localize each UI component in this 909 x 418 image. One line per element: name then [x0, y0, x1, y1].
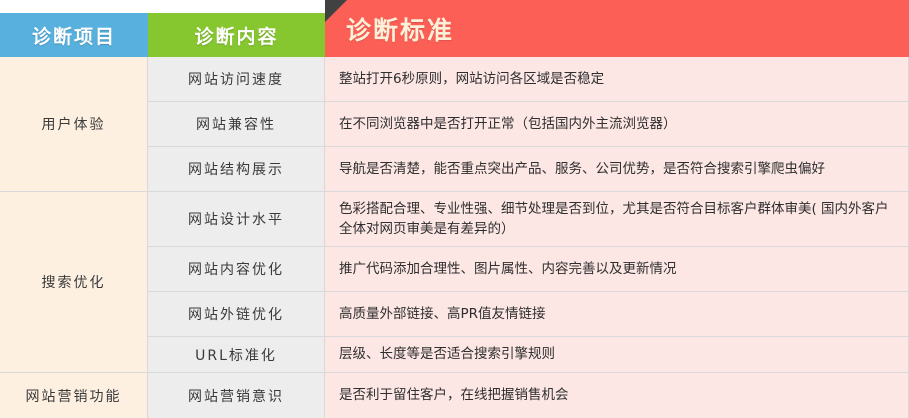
- header-label-standard: 诊断标准: [346, 11, 454, 47]
- standard-text: 层级、长度等是否适合搜索引擎规则: [339, 344, 555, 364]
- standard-text: 色彩搭配合理、专业性强、细节处理是否到位，尤其是否符合目标客户群体审美( 国内外…: [339, 199, 896, 240]
- standard-cell: 高质量外部链接、高PR值友情链接: [325, 292, 909, 337]
- folded-corner-icon: [325, 0, 347, 22]
- header-label-content: 诊断内容: [194, 22, 278, 49]
- content-label: 网站内容优化: [188, 259, 284, 279]
- content-cell: 网站结构展示: [148, 147, 325, 192]
- standard-cell: 是否利于留住客户，在线把握销售机会: [325, 373, 909, 418]
- column-content: 网站访问速度 网站兼容性 网站结构展示 网站设计水平 网站内容优化 网站外链优化…: [148, 57, 325, 418]
- standard-cell: 推广代码添加合理性、图片属性、内容完善以及更新情况: [325, 247, 909, 292]
- content-cell: 网站外链优化: [148, 292, 325, 337]
- group-label: 用户体验: [42, 114, 106, 134]
- content-cell: 网站内容优化: [148, 247, 325, 292]
- group-cell-seo: 搜索优化: [0, 192, 148, 373]
- content-cell: 网站访问速度: [148, 57, 325, 102]
- header-cell-item: 诊断项目: [0, 13, 148, 57]
- table-body: 用户体验 搜索优化 网站营销功能 网站访问速度 网站兼容性 网站结构展示 网站设…: [0, 57, 909, 418]
- column-item: 用户体验 搜索优化 网站营销功能: [0, 57, 148, 418]
- content-label: 网站结构展示: [188, 159, 284, 179]
- content-label: 网站设计水平: [188, 209, 284, 229]
- column-standard: 整站打开6秒原则，网站访问各区域是否稳定 在不同浏览器中是否打开正常（包括国内外…: [325, 57, 909, 418]
- group-label: 网站营销功能: [26, 386, 122, 406]
- standard-text: 导航是否清楚，能否重点突出产品、服务、公司优势，是否符合搜索引擎爬虫偏好: [339, 159, 825, 179]
- standard-cell: 层级、长度等是否适合搜索引擎规则: [325, 337, 909, 373]
- content-cell: URL标准化: [148, 337, 325, 373]
- content-label: 网站外链优化: [188, 304, 284, 324]
- standard-cell: 整站打开6秒原则，网站访问各区域是否稳定: [325, 57, 909, 102]
- standard-cell: 色彩搭配合理、专业性强、细节处理是否到位，尤其是否符合目标客户群体审美( 国内外…: [325, 192, 909, 247]
- group-cell-user-experience: 用户体验: [0, 57, 148, 192]
- content-label: 网站兼容性: [196, 114, 276, 134]
- content-cell: 网站兼容性: [148, 102, 325, 147]
- standard-text: 整站打开6秒原则，网站访问各区域是否稳定: [339, 69, 604, 89]
- diagnosis-table: 诊断项目 诊断内容 诊断标准 用户体验 搜索优化 网站营销功能 网站访问速度 网…: [0, 0, 909, 418]
- header-cell-content: 诊断内容: [148, 13, 325, 57]
- content-label: 网站访问速度: [188, 69, 284, 89]
- standard-text: 在不同浏览器中是否打开正常（包括国内外主流浏览器）: [339, 114, 677, 134]
- header-cell-standard: 诊断标准: [325, 0, 909, 57]
- content-label: 网站营销意识: [188, 386, 284, 406]
- content-cell: 网站设计水平: [148, 192, 325, 247]
- standard-text: 高质量外部链接、高PR值友情链接: [339, 304, 546, 324]
- standard-cell: 导航是否清楚，能否重点突出产品、服务、公司优势，是否符合搜索引擎爬虫偏好: [325, 147, 909, 192]
- content-label: URL标准化: [195, 345, 277, 365]
- standard-text: 是否利于留住客户，在线把握销售机会: [339, 385, 569, 405]
- header-label-item: 诊断项目: [32, 22, 116, 49]
- standard-text: 推广代码添加合理性、图片属性、内容完善以及更新情况: [339, 259, 677, 279]
- group-cell-marketing: 网站营销功能: [0, 373, 148, 418]
- content-cell: 网站营销意识: [148, 373, 325, 418]
- standard-cell: 在不同浏览器中是否打开正常（包括国内外主流浏览器）: [325, 102, 909, 147]
- group-label: 搜索优化: [42, 272, 106, 292]
